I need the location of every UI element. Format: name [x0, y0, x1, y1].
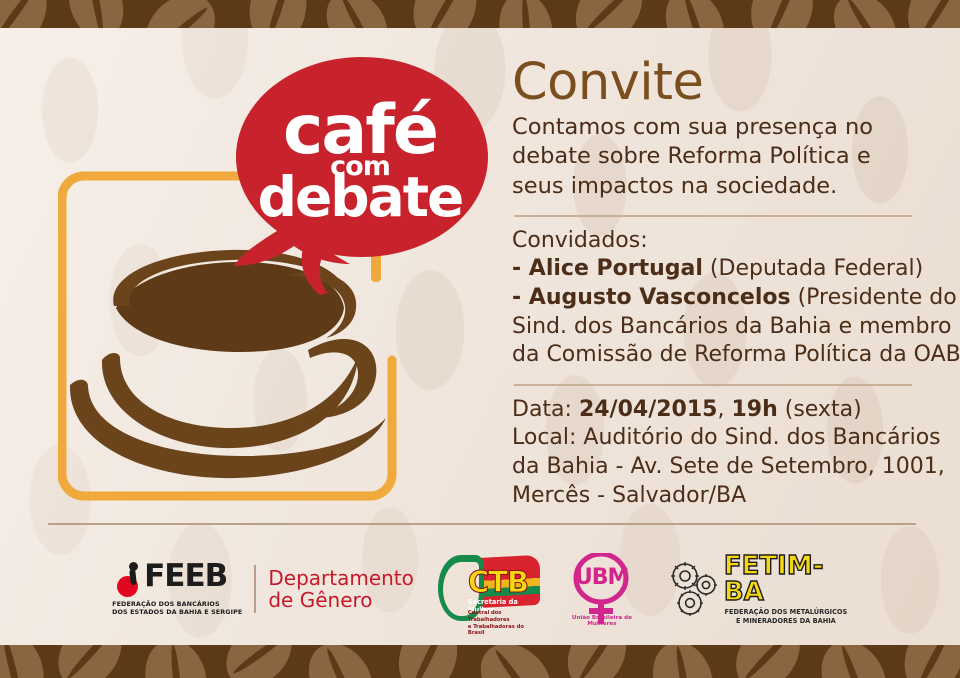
bean-icon: [557, 645, 638, 678]
gears-icon: [668, 560, 722, 618]
invite-lead: Contamos com sua presença no debate sobr…: [512, 113, 924, 201]
ctb-subtitle-line-2: Central dos Trabalhadores: [468, 610, 540, 624]
fetim-subtitle-line-1: FEDERAÇÃO DOS METALÚRGICOS: [724, 608, 848, 617]
feeb-head-icon: [129, 562, 138, 571]
logo-feeb[interactable]: FEEB FEDERAÇÃO DOS BANCÁRIOS DOS ESTADOS…: [112, 562, 414, 616]
guest-cont-line-2: da Comissão de Reforma Política da OAB: [512, 341, 924, 370]
weekday-value: (sexta): [778, 397, 862, 422]
guest-2-name: Augusto Vasconcelos: [529, 285, 791, 310]
bean-icon: [655, 0, 736, 28]
divider-above-details: [514, 384, 912, 386]
feeb-department-label: Departamento de Gênero: [268, 567, 414, 612]
time-value: 19h: [731, 397, 777, 422]
feeb-subtitle-line-2: DOS ESTADOS DA BAHIA E SERGIPE: [112, 608, 242, 616]
lead-line-2: debate sobre Reforma Política e: [512, 143, 871, 169]
ctb-wordmark: CTB: [468, 565, 528, 599]
bean-icon: [809, 645, 900, 678]
ctb-subtitle-line-3: e Trabalhadoras do Brasil: [468, 624, 540, 638]
fetim-subtitle-line-2: E MINERADORES DA BAHIA: [724, 617, 848, 626]
guests-block: Convidados: - Alice Portugal (Deputada F…: [512, 227, 924, 370]
bean-icon: [897, 0, 960, 28]
bean-icon: [467, 645, 566, 678]
fetim-text-block: FETIM-BA FEDERAÇÃO DOS METALÚRGICOS E MI…: [724, 553, 848, 626]
bean-icon: [821, 0, 909, 28]
ubm-subtitle: União Brasileira de Mulheres: [560, 615, 644, 627]
department-line-2: de Gênero: [268, 589, 414, 611]
details-block: Data: 24/04/2015, 19h (sexta) Local: Aud…: [512, 396, 924, 510]
feeb-body-icon: [129, 569, 137, 586]
feeb-wordmark: FEEB: [144, 562, 227, 591]
page-title: Convite: [512, 56, 924, 109]
fetim-wordmark: FETIM-BA: [724, 553, 848, 605]
guest-2-role: (Presidente do: [791, 285, 957, 310]
date-label: Data:: [512, 397, 579, 422]
guests-heading: Convidados:: [512, 227, 924, 256]
date-row: Data: 24/04/2015, 19h (sexta): [512, 396, 924, 425]
bean-icon: [0, 645, 55, 678]
guest-1-dash: -: [512, 256, 529, 281]
logo-fetim-ba[interactable]: FETIM-BA FEDERAÇÃO DOS METALÚRGICOS E MI…: [668, 554, 848, 624]
bean-icon: [493, 0, 559, 28]
feeb-subtitle: FEDERAÇÃO DOS BANCÁRIOS DOS ESTADOS DA B…: [112, 600, 242, 616]
sponsor-logo-row: FEEB FEDERAÇÃO DOS BANCÁRIOS DOS ESTADOS…: [0, 543, 960, 635]
top-bean-band: [0, 0, 960, 28]
bean-icon: [895, 645, 960, 678]
fetim-subtitle: FEDERAÇÃO DOS METALÚRGICOS E MINERADORES…: [724, 608, 848, 626]
bean-icon: [46, 645, 135, 678]
bean-icon: [0, 0, 59, 28]
bean-icon: [137, 645, 215, 678]
feeb-person-icon: [112, 562, 142, 598]
guest-1-name: Alice Portugal: [529, 256, 703, 281]
bean-icon: [314, 0, 400, 28]
feeb-vertical-divider: [254, 565, 256, 613]
cafe-com-debate-badge: [232, 52, 488, 287]
guest-cont-line-1: Sind. dos Bancários da Bahia e membro: [512, 313, 924, 342]
place-line-1: Local: Auditório do Sind. dos Bancários: [512, 424, 924, 453]
bottom-bean-band: [0, 645, 960, 678]
feeb-subtitle-line-1: FEDERAÇÃO DOS BANCÁRIOS: [112, 600, 242, 608]
bean-icon: [214, 645, 305, 678]
guest-2-dash: -: [512, 285, 529, 310]
place-line-3: Mercês - Salvador/BA: [512, 482, 924, 511]
bean-icon: [60, 0, 132, 28]
footer-divider: [48, 523, 916, 525]
bean-icon: [131, 0, 229, 28]
bean-icon: [296, 645, 387, 678]
guest-row-1: - Alice Portugal (Deputada Federal): [512, 255, 924, 284]
feeb-mark-and-word: FEEB: [112, 562, 242, 598]
department-line-1: Departamento: [268, 567, 414, 589]
logo-ctb[interactable]: CTB Secretaria da Mulher Central dos Tra…: [438, 551, 540, 627]
bean-icon: [562, 0, 656, 28]
invite-text-column: Convite Contamos com sua presença no deb…: [512, 56, 924, 510]
ubm-wordmark: UBM: [575, 565, 627, 590]
lead-line-1: Contamos com sua presença no: [512, 114, 873, 140]
date-value: 24/04/2015: [579, 397, 718, 422]
bean-icon: [244, 0, 312, 28]
poster-canvas: café com debate Convite Contamos com sua…: [0, 0, 960, 678]
lead-line-3: seus impactos na sociedade.: [512, 173, 837, 199]
bean-icon: [643, 645, 722, 678]
logo-ubm[interactable]: UBM União Brasileira de Mulheres: [562, 551, 642, 627]
bean-icon: [403, 0, 488, 28]
guest-1-role: (Deputada Federal): [703, 256, 923, 281]
bean-icon: [723, 645, 813, 678]
divider-above-guests: [514, 215, 912, 217]
place-line-2: da Bahia - Av. Sete de Setembro, 1001,: [512, 453, 924, 482]
bean-icon: [742, 0, 822, 28]
ctb-subtitle-lines: Central dos Trabalhadores e Trabalhadora…: [468, 610, 540, 637]
bean-icon: [390, 645, 467, 678]
guest-row-2: - Augusto Vasconcelos (Presidente do: [512, 284, 924, 313]
date-separator: ,: [717, 397, 731, 422]
